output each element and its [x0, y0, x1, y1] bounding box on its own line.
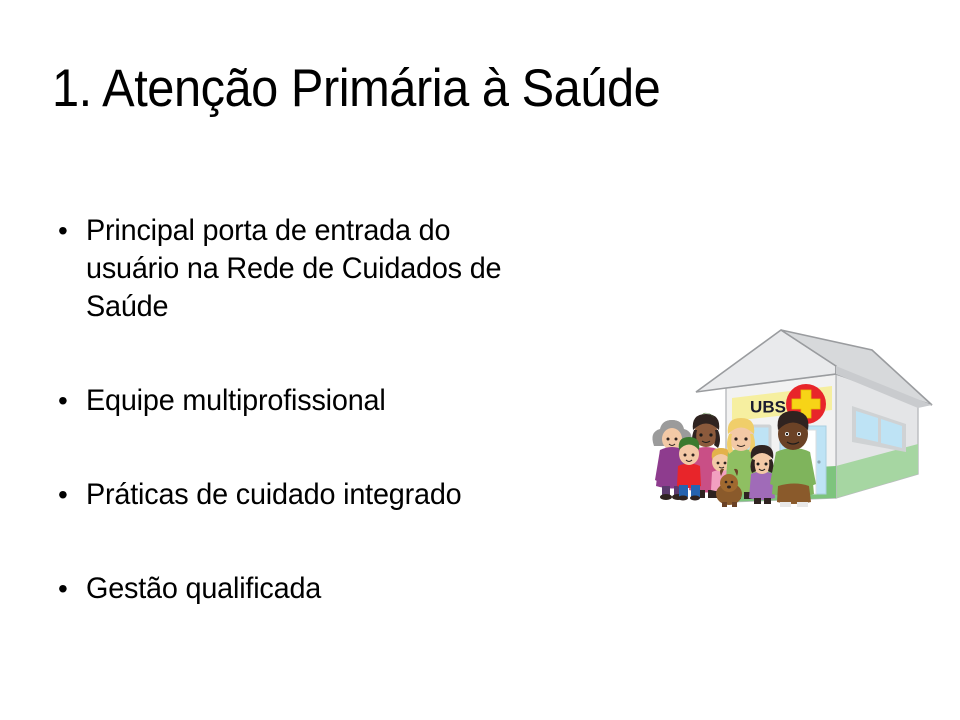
page-title: 1. Atenção Primária à Saúde: [52, 58, 843, 120]
door-handle-right: [817, 460, 820, 463]
bullet-point-icon: •: [52, 476, 86, 514]
presentation-slide: 1. Atenção Primária à Saúde • Principal …: [0, 0, 960, 720]
list-item: • Práticas de cuidado integrado: [52, 476, 612, 514]
community-people-group: [652, 411, 816, 507]
bullet-text: Práticas de cuidado integrado: [86, 476, 591, 514]
bullet-text: Principal porta de entrada do usuário na…: [86, 212, 591, 326]
bullet-text: Equipe multiprofissional: [86, 382, 591, 420]
ubs-health-unit-illustration: UBS: [640, 326, 940, 516]
bullet-list: • Principal porta de entrada do usuário …: [52, 212, 612, 608]
bullet-point-icon: •: [52, 570, 86, 608]
list-item: • Gestão qualificada: [52, 570, 612, 608]
bullet-text: Gestão qualificada: [86, 570, 591, 608]
list-item: • Equipe multiprofissional: [52, 382, 612, 420]
person-boy-child: [677, 437, 701, 501]
ubs-sign-label: UBS: [750, 397, 786, 416]
bullet-point-icon: •: [52, 212, 86, 250]
bullet-point-icon: •: [52, 382, 86, 420]
list-item: • Principal porta de entrada do usuário …: [52, 212, 612, 326]
person-girl-child: [749, 445, 775, 504]
